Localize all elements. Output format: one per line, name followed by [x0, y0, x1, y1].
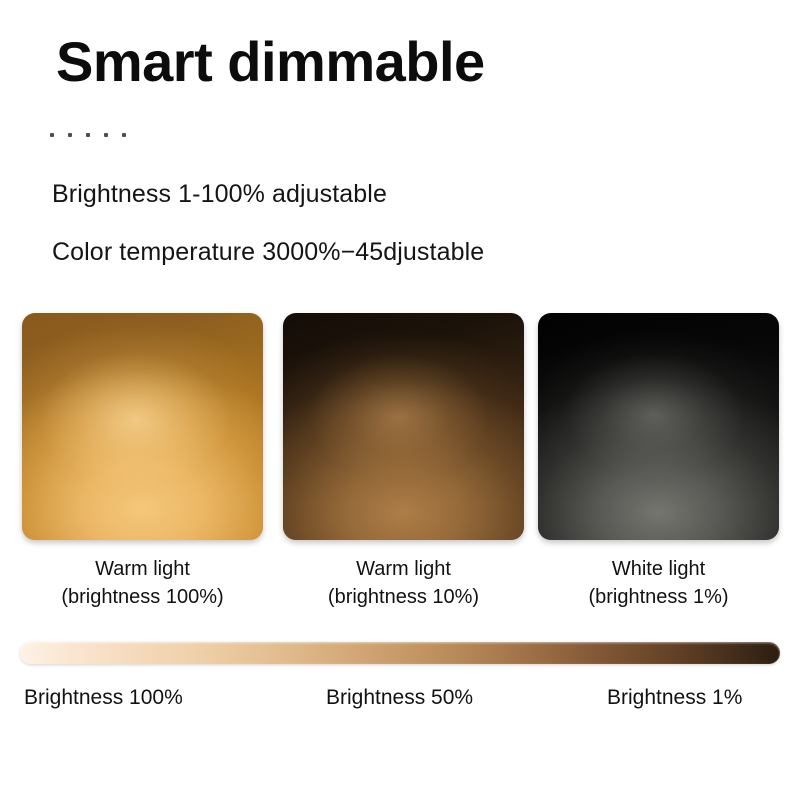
brightness-scale-labels: Brightness 100% Brightness 50% Brightnes…	[0, 686, 800, 716]
page-title: Smart dimmable	[56, 33, 485, 92]
panel-glow-hotspot	[22, 313, 263, 540]
panel-glow-hotspot	[538, 313, 779, 540]
light-sample-white-1	[538, 313, 779, 540]
dot-icon	[122, 133, 126, 137]
dot-icon	[50, 133, 54, 137]
dot-icon	[104, 133, 108, 137]
dot-icon	[86, 133, 90, 137]
panel-glow-hotspot	[283, 313, 524, 540]
light-sample-gallery	[0, 313, 800, 541]
caption-detail: (brightness 100%)	[22, 583, 263, 611]
caption-white-1: White light (brightness 1%)	[538, 555, 779, 612]
brightness-gradient-bar	[20, 642, 780, 664]
dot-icon	[68, 133, 72, 137]
caption-warm-100: Warm light (brightness 100%)	[22, 555, 263, 612]
caption-title: White light	[538, 555, 779, 583]
caption-detail: (brightness 10%)	[283, 583, 524, 611]
spec-brightness-range: Brightness 1-100% adjustable	[52, 180, 387, 209]
brightness-label-max: Brightness 100%	[24, 686, 183, 710]
caption-title: Warm light	[283, 555, 524, 583]
caption-detail: (brightness 1%)	[538, 583, 779, 611]
light-sample-warm-10	[283, 313, 524, 540]
caption-warm-10: Warm light (brightness 10%)	[283, 555, 524, 612]
brightness-label-mid: Brightness 50%	[326, 686, 473, 710]
spec-color-temperature-range: Color temperature 3000%−45djustable	[52, 238, 484, 267]
caption-title: Warm light	[22, 555, 263, 583]
product-feature-slide: Smart dimmable Brightness 1-100% adjusta…	[0, 0, 800, 800]
decorative-dots	[50, 133, 126, 137]
light-sample-warm-100	[22, 313, 263, 540]
brightness-label-min: Brightness 1%	[607, 686, 742, 710]
